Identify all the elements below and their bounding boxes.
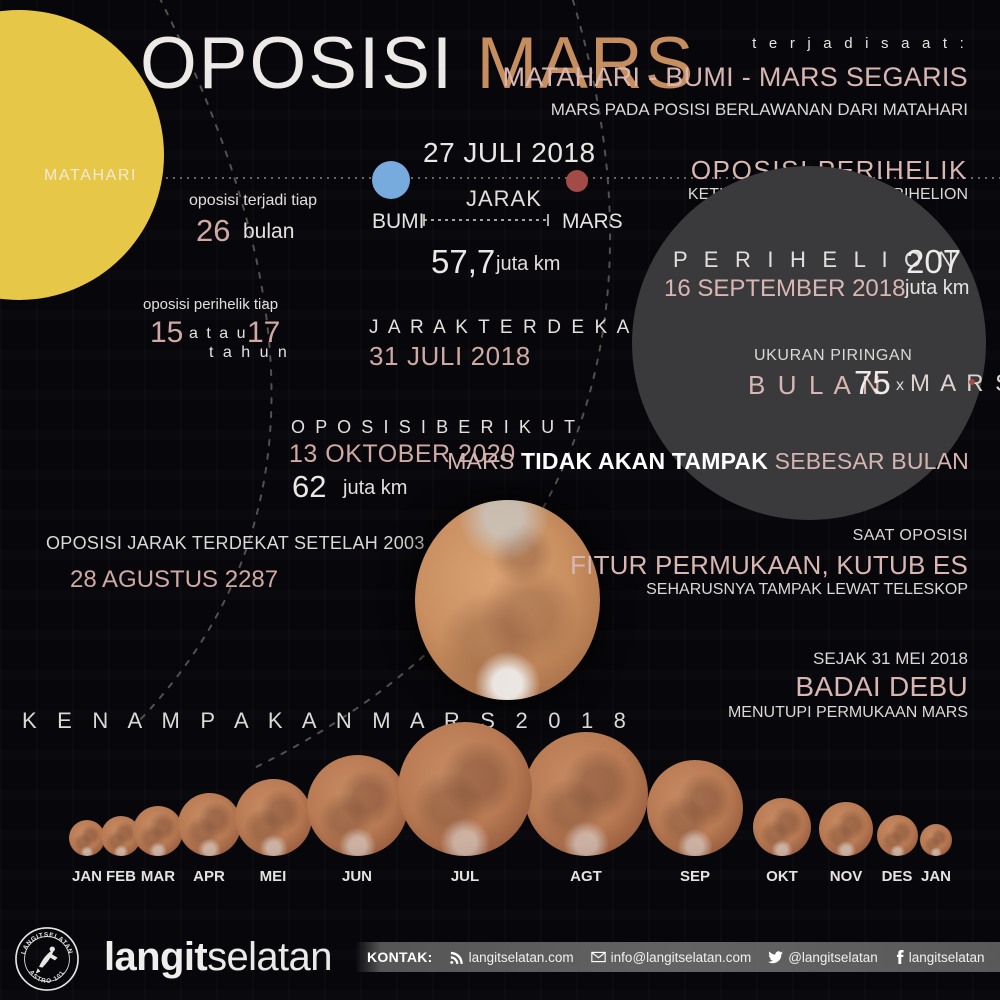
title-part-oposisi: OPOSISI bbox=[140, 23, 454, 104]
mars-disc-okt-9 bbox=[753, 798, 811, 856]
occurs-when-label: t e r j a d i s a a t : bbox=[752, 35, 968, 52]
month-label-apr-3: APR bbox=[193, 868, 225, 885]
distance-label: JARAK bbox=[466, 186, 542, 212]
perihelion-unit: juta km bbox=[905, 277, 969, 300]
not-as-big-pre: MARS bbox=[447, 448, 521, 474]
mars-disc-jan-0 bbox=[69, 820, 105, 856]
facebook-icon bbox=[895, 950, 904, 964]
month-label-jan-12: JAN bbox=[921, 868, 951, 885]
surface-features-label: SAAT OPOSISI bbox=[853, 527, 968, 545]
mars-size-dot bbox=[969, 379, 975, 385]
twitter-icon bbox=[768, 951, 783, 964]
closest-after-2003-label: OPOSISI JARAK TERDEKAT SETELAH 2003 bbox=[46, 533, 425, 554]
sun-label: MATAHARI bbox=[44, 167, 137, 185]
mars-disc-mei-4 bbox=[235, 779, 312, 856]
contact-text: langitselatan bbox=[909, 950, 985, 965]
contact-item-rss[interactable]: langitselatan.com bbox=[450, 950, 574, 965]
perihelion-distance: 207 bbox=[906, 243, 961, 281]
contact-item-twitter[interactable]: @langitselatan bbox=[768, 950, 878, 965]
contact-text: @langitselatan bbox=[788, 950, 878, 965]
opposition-interval-label: oposisi terjadi tiap bbox=[189, 192, 317, 210]
perihelic-interval-unit: t a h u n bbox=[209, 344, 289, 362]
disc-size-label: UKURAN PIRINGAN bbox=[754, 347, 912, 365]
dust-storm-label: SEJAK 31 MEI 2018 bbox=[813, 649, 968, 669]
opposition-date: 27 JULI 2018 bbox=[423, 137, 596, 169]
contact-bar: KONTAK: langitselatan.cominfo@langitsela… bbox=[355, 942, 1000, 972]
earth-label: BUMI bbox=[372, 210, 425, 234]
footer: LANGITSELATAN ASTRO 101 langitselatan KO… bbox=[0, 918, 1000, 1000]
perihelic-interval-value-1: 15 bbox=[150, 316, 183, 350]
not-as-big-post: SEBESAR BULAN bbox=[768, 448, 969, 474]
contact-text: info@langitselatan.com bbox=[611, 950, 752, 965]
svg-text:ASTRO 101: ASTRO 101 bbox=[27, 969, 66, 985]
mars-label: MARS bbox=[562, 210, 623, 234]
contact-item-facebook[interactable]: langitselatan bbox=[895, 950, 985, 965]
brand-wordmark[interactable]: langitselatan bbox=[104, 935, 332, 980]
brand-thin: selatan bbox=[207, 935, 332, 979]
mars-disc-jul-7 bbox=[398, 722, 532, 856]
contact-text: langitselatan.com bbox=[469, 950, 574, 965]
perihelion-date: 16 SEPTEMBER 2018 bbox=[664, 275, 905, 303]
not-as-big-emph: TIDAK AKAN TAMPAK bbox=[521, 448, 768, 474]
mars-planet-photo bbox=[415, 500, 600, 700]
disc-size-times: x bbox=[896, 377, 904, 395]
occurs-when-line1: MATAHARI - BUMI - MARS SEGARIS bbox=[502, 62, 968, 93]
opposition-interval-value: 26 bbox=[196, 213, 230, 249]
next-opposition-label: O P O S I S I B E R I K U T bbox=[291, 417, 578, 438]
mars-disc-sep-8 bbox=[647, 760, 743, 856]
month-label-des-11: DES bbox=[882, 868, 913, 885]
rss-icon bbox=[450, 950, 464, 964]
distance-measure-bracket bbox=[424, 214, 548, 226]
appearance-strip: JANFEBMARAPRMEIJUNAGTJULSEPOKTNOVDESJAN bbox=[0, 760, 1000, 905]
closest-approach-label: J A R A K T E R D E K A T bbox=[369, 317, 653, 339]
closest-approach-value: 31 JULI 2018 bbox=[369, 341, 531, 372]
infographic-poster: MATAHARI OPOSISI MARS oposisi terjadi ti… bbox=[0, 0, 1000, 1000]
month-label-jan-0: JAN bbox=[72, 868, 102, 885]
month-label-mar-2: MAR bbox=[141, 868, 175, 885]
month-label-nov-10: NOV bbox=[830, 868, 863, 885]
month-label-jul-7: JUL bbox=[451, 868, 479, 885]
next-opposition-unit: juta km bbox=[343, 477, 407, 500]
distance-value: 57,7 bbox=[431, 243, 495, 281]
mars-disc-agt-6 bbox=[524, 732, 648, 856]
next-opposition-distance: 62 bbox=[292, 469, 326, 505]
mars-disc-jun-5 bbox=[307, 755, 408, 856]
contact-item-envelope[interactable]: info@langitselatan.com bbox=[591, 950, 752, 965]
langitselatan-logo-icon[interactable]: LANGITSELATAN ASTRO 101 bbox=[14, 926, 80, 992]
disc-size-factor: 75 bbox=[854, 364, 891, 402]
perihelic-interval-label: oposisi perihelik tiap bbox=[143, 296, 278, 313]
disc-size-mars: M A R S bbox=[910, 370, 1000, 398]
surface-features-sub: SEHARUSNYA TAMPAK LEWAT TELESKOP bbox=[646, 581, 968, 599]
month-label-feb-1: FEB bbox=[106, 868, 136, 885]
opposition-interval-unit: bulan bbox=[243, 220, 294, 244]
mars-dot bbox=[566, 170, 588, 192]
occurs-when-line2: MARS PADA POSISI BERLAWANAN DARI MATAHAR… bbox=[551, 100, 968, 120]
dust-storm-sub: MENUTUPI PERMUKAAN MARS bbox=[728, 704, 968, 722]
month-label-agt-6: AGT bbox=[570, 868, 602, 885]
surface-features-main: FITUR PERMUKAAN, KUTUB ES bbox=[570, 550, 968, 581]
not-as-big-as-moon-statement: MARS TIDAK AKAN TAMPAK SEBESAR BULAN bbox=[447, 448, 969, 475]
earth-dot bbox=[372, 161, 410, 199]
month-label-sep-8: SEP bbox=[680, 868, 710, 885]
mars-disc-jan-12 bbox=[920, 824, 952, 856]
mars-disc-nov-10 bbox=[819, 802, 873, 856]
logo-bottom-text: ASTRO 101 bbox=[27, 969, 66, 985]
mars-disc-mar-2 bbox=[133, 806, 183, 856]
closest-after-2003-value: 28 AGUSTUS 2287 bbox=[70, 566, 278, 594]
dust-storm-main: BADAI DEBU bbox=[795, 671, 968, 703]
contact-label: KONTAK: bbox=[367, 949, 433, 965]
perihelic-interval-conjunction: a t a u bbox=[189, 325, 247, 343]
month-label-okt-9: OKT bbox=[766, 868, 798, 885]
brand-bold: langit bbox=[104, 935, 207, 979]
appearance-strip-title: K E N A M P A K A N M A R S 2 0 1 8 bbox=[22, 708, 633, 734]
month-label-mei-4: MEI bbox=[260, 868, 287, 885]
mars-disc-des-11 bbox=[877, 815, 918, 856]
month-label-jun-5: JUN bbox=[342, 868, 372, 885]
mars-disc-apr-3 bbox=[178, 793, 241, 856]
envelope-icon bbox=[591, 951, 606, 963]
distance-unit: juta km bbox=[496, 253, 560, 276]
